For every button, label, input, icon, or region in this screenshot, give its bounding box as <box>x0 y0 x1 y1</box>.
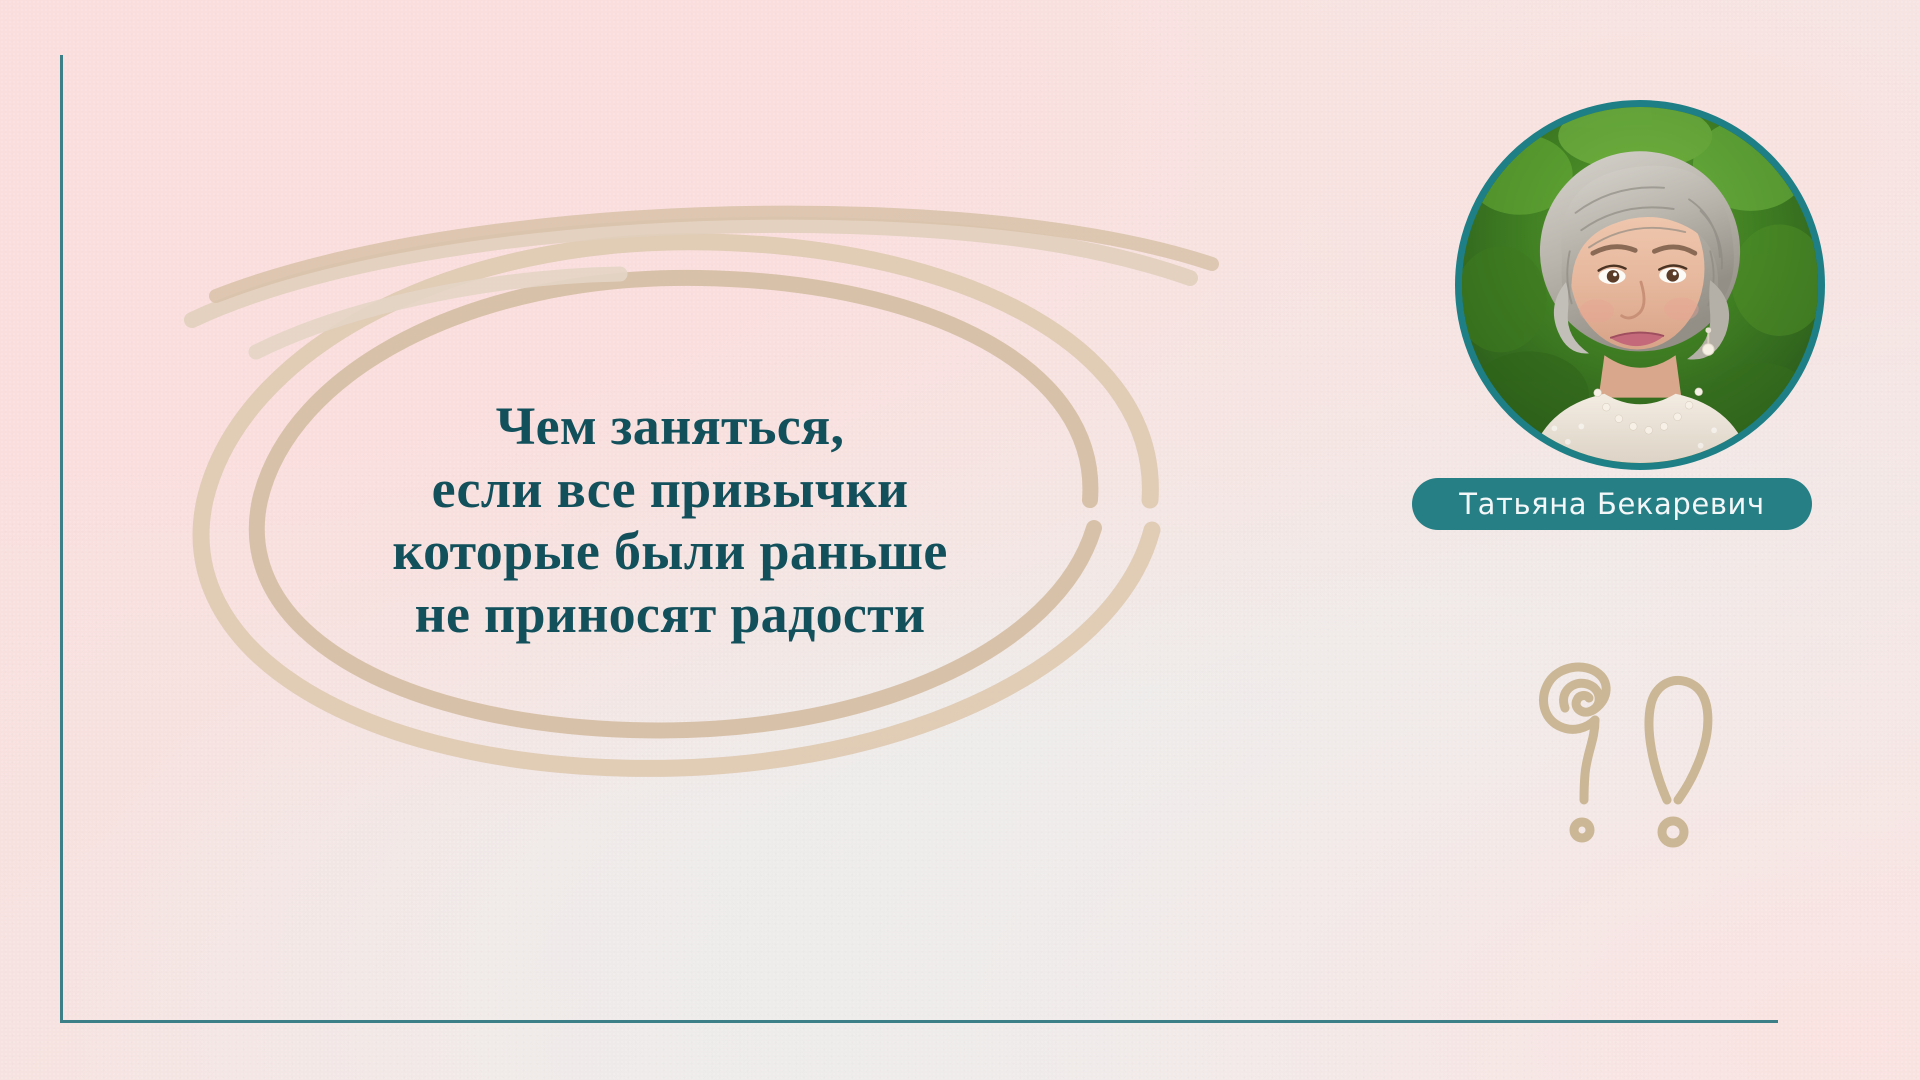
headline-line-4: не приносят радости <box>300 583 1040 646</box>
headline-line-2: если все привычки <box>300 458 1040 521</box>
page-title: Чем заняться, если все привычки которые … <box>300 395 1040 646</box>
headline-line-3: которые были раньше <box>300 520 1040 583</box>
speaker-name-label: Татьяна Бекаревич <box>1459 487 1764 521</box>
speaker-portrait-avatar <box>1455 100 1825 470</box>
frame-vertical-line <box>60 55 63 1023</box>
frame-horizontal-line <box>60 1020 1778 1023</box>
speaker-name-badge: Татьяна Бекаревич <box>1412 478 1812 530</box>
headline-line-1: Чем заняться, <box>300 395 1040 458</box>
question-exclamation-decoration-icon <box>1515 648 1745 878</box>
slide-canvas: Чем заняться, если все привычки которые … <box>0 0 1920 1080</box>
